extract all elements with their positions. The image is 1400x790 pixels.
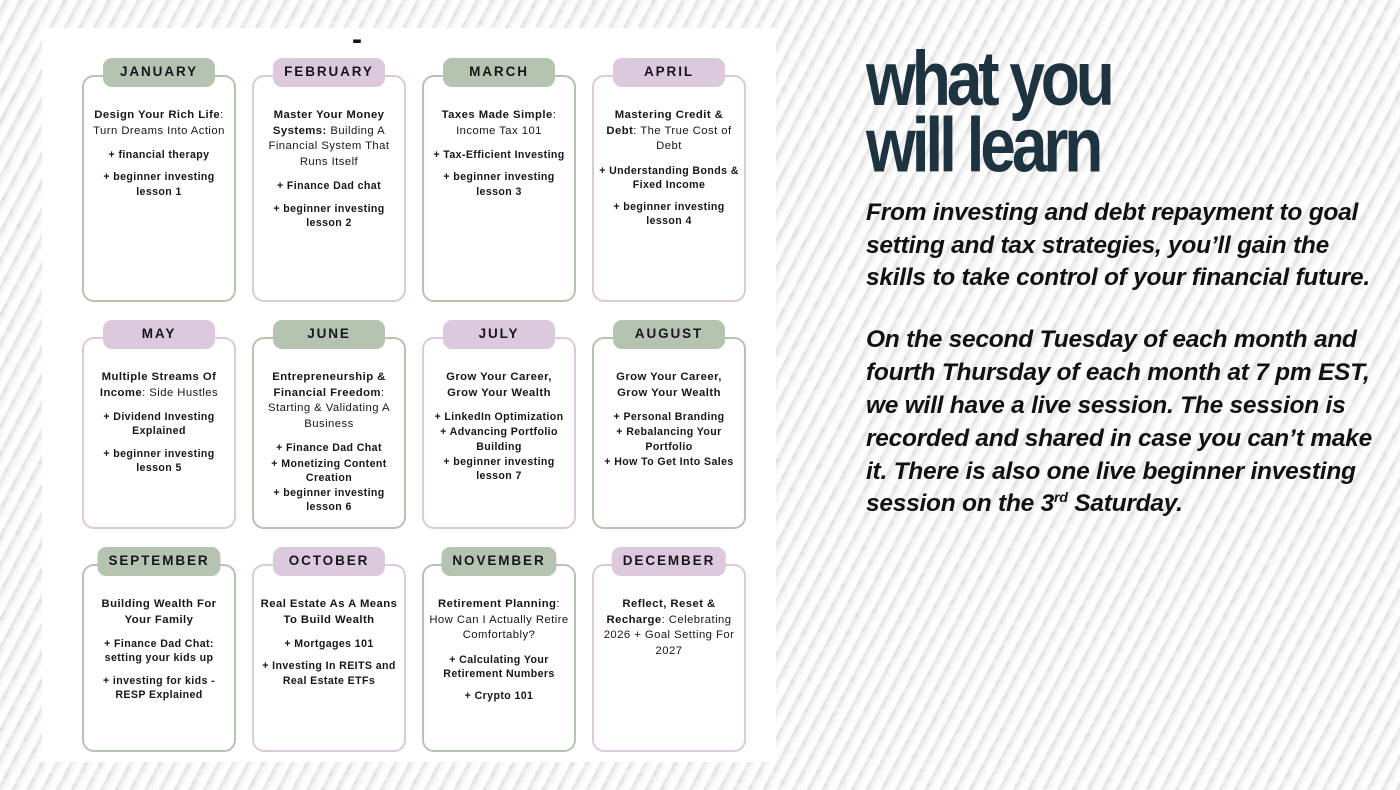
month-card-bullet: + How To Get Into Sales [599,455,739,469]
month-card-title: Master Your Money Systems: Building A Fi… [259,108,399,170]
month-card-tab-label: JUNE [307,326,351,341]
month-card-title-emphasis: Grow Your Career, Grow Your Wealth [616,371,722,399]
month-card-tab-label: FEBRUARY [284,64,374,79]
month-card-bullets: + Tax-Efficient Investing+ beginner inve… [429,148,569,199]
month-card-title-emphasis: Taxes Made Simple [442,109,553,121]
month-card-tab[interactable]: NOVEMBER [441,547,556,576]
month-card-body: Mastering Credit & Debt: The True Cost o… [592,75,746,302]
page-title: what you will learn [866,46,1361,179]
month-card-title: Real Estate As A Means To Build Wealth [259,597,399,628]
month-card[interactable]: Design Your Rich Life: Turn Dreams Into … [82,58,236,302]
month-card-grid: Design Your Rich Life: Turn Dreams Into … [82,58,786,752]
month-card-bullets: + Finance Dad Chat: setting your kids up… [89,637,229,702]
month-card-title: Taxes Made Simple: Income Tax 101 [429,108,569,139]
month-card-bullet: + Finance Dad Chat: setting your kids up [89,637,229,665]
month-card[interactable]: Multiple Streams Of Income: Side Hustles… [82,320,236,529]
month-card-bullets: + Personal Branding+ Rebalancing Your Po… [599,410,739,469]
month-card-bullet: + Understanding Bonds & Fixed Income [599,164,739,192]
month-card-title: Reflect, Reset & Recharge: Celebrating 2… [599,597,739,659]
month-card-body: Design Your Rich Life: Turn Dreams Into … [82,75,236,302]
month-card-bullet: + beginner investing lesson 1 [89,170,229,198]
month-card-body: Real Estate As A Means To Build Wealth+ … [252,564,406,752]
cropped-text-artifact: - [352,23,372,57]
month-card-title: Grow Your Career, Grow Your Wealth [599,370,739,401]
month-card[interactable]: Retirement Planning: How Can I Actually … [422,547,576,752]
month-card-tab-label: DECEMBER [623,553,715,568]
month-card-title-emphasis: Retirement Planning [438,598,556,610]
month-card-bullet: + Advancing Portfolio Building [429,425,569,453]
month-card-title: Retirement Planning: How Can I Actually … [429,597,569,644]
month-card-tab[interactable]: MARCH [443,58,555,87]
month-card-tab-label: APRIL [644,64,694,79]
month-card-tab-label: NOVEMBER [452,553,545,568]
month-card-bullet: + beginner investing lesson 5 [89,447,229,475]
learn-paragraph-2-tail: Saturday. [1068,490,1183,517]
month-card-bullet: + Tax-Efficient Investing [429,148,569,162]
month-card[interactable]: Real Estate As A Means To Build Wealth+ … [252,547,406,752]
month-card-bullet: + Mortgages 101 [259,637,399,651]
month-card-tab[interactable]: DECEMBER [612,547,726,576]
month-card-body: Taxes Made Simple: Income Tax 101+ Tax-E… [422,75,576,302]
month-card[interactable]: Grow Your Career, Grow Your Wealth+ Pers… [592,320,746,529]
month-card-title: Multiple Streams Of Income: Side Hustles [89,370,229,401]
month-card-tab[interactable]: JANUARY [103,58,215,87]
month-card-title-emphasis: Building Wealth For Your Family [101,598,216,626]
month-card-bullet: + beginner investing lesson 6 [259,486,399,514]
month-card-bullet: + beginner investing lesson 3 [429,170,569,198]
month-card-tab[interactable]: AUGUST [613,320,725,349]
month-card-tab-label: AUGUST [635,326,703,341]
month-card-title: Building Wealth For Your Family [89,597,229,628]
month-card-bullets: + Understanding Bonds & Fixed Income+ be… [599,164,739,229]
month-card-bullets: + financial therapy+ beginner investing … [89,148,229,199]
month-card-title-emphasis: Entrepreneurship & Financial Freedom [272,371,386,399]
month-card-tab[interactable]: JUNE [273,320,385,349]
month-card-title-emphasis: Real Estate As A Means To Build Wealth [261,598,398,626]
calendar-panel: - Design Your Rich Life: Turn Dreams Int… [42,28,776,762]
month-card-body: Multiple Streams Of Income: Side Hustles… [82,337,236,529]
month-card-bullet: + Rebalancing Your Portfolio [599,425,739,453]
month-card[interactable]: Entrepreneurship & Financial Freedom: St… [252,320,406,529]
month-card-title-rest: : The True Cost of Debt [633,125,731,153]
month-card-bullet: + Dividend Investing Explained [89,410,229,438]
month-card-tab[interactable]: MAY [103,320,215,349]
month-card[interactable]: Building Wealth For Your Family+ Finance… [82,547,236,752]
month-card-bullets: + Finance Dad chat+ beginner investing l… [259,179,399,230]
month-card-tab[interactable]: JULY [443,320,555,349]
month-card-tab[interactable]: SEPTEMBER [97,547,220,576]
month-card-body: Retirement Planning: How Can I Actually … [422,564,576,752]
month-card-bullet: + beginner investing lesson 7 [429,455,569,483]
month-card-body: Master Your Money Systems: Building A Fi… [252,75,406,302]
month-card-body: Grow Your Career, Grow Your Wealth+ Pers… [592,337,746,529]
month-card-bullet: + LinkedIn Optimization [429,410,569,424]
ordinal-suffix: rd [1054,490,1068,506]
month-card[interactable]: Reflect, Reset & Recharge: Celebrating 2… [592,547,746,752]
month-card[interactable]: Taxes Made Simple: Income Tax 101+ Tax-E… [422,58,576,302]
month-card-bullet: + Monetizing Content Creation [259,457,399,485]
month-card-bullets: + Finance Dad Chat+ Monetizing Content C… [259,441,399,514]
month-card-tab-label: MARCH [469,64,529,79]
month-card-bullet: + Crypto 101 [429,689,569,703]
month-card-title: Mastering Credit & Debt: The True Cost o… [599,108,739,155]
month-card-title: Entrepreneurship & Financial Freedom: St… [259,370,399,432]
month-card-bullet: + Personal Branding [599,410,739,424]
month-card-tab-label: SEPTEMBER [108,553,209,568]
month-card[interactable]: Mastering Credit & Debt: The True Cost o… [592,58,746,302]
month-card-bullet: + Investing In REITS and Real Estate ETF… [259,659,399,687]
month-card-title-rest: : Side Hustles [142,387,218,399]
month-card-title-emphasis: Grow Your Career, Grow Your Wealth [446,371,552,399]
month-card-bullet: + Finance Dad chat [259,179,399,193]
month-card-tab-label: MAY [142,326,176,341]
month-card-bullet: + beginner investing lesson 2 [259,202,399,230]
month-card[interactable]: Grow Your Career, Grow Your Wealth+ Link… [422,320,576,529]
month-card-bullet: + beginner investing lesson 4 [599,200,739,228]
month-card-bullets: + Calculating Your Retirement Numbers+ C… [429,653,569,704]
month-card-title-emphasis: Design Your Rich Life [94,109,220,121]
month-card-bullets: + LinkedIn Optimization+ Advancing Portf… [429,410,569,483]
month-card-bullet: + financial therapy [89,148,229,162]
month-card-bullets: + Dividend Investing Explained+ beginner… [89,410,229,475]
month-card-tab-label: JANUARY [120,64,198,79]
month-card-body: Building Wealth For Your Family+ Finance… [82,564,236,752]
month-card-bullet: + Finance Dad Chat [259,441,399,455]
month-card-tab-label: OCTOBER [289,553,370,568]
what-you-will-learn-panel: what you will learn From investing and d… [866,46,1376,521]
month-card-tab[interactable]: OCTOBER [273,547,385,576]
month-card-body: Reflect, Reset & Recharge: Celebrating 2… [592,564,746,752]
learn-paragraph-2-text: On the second Tuesday of each month and … [866,326,1372,517]
month-card-tab[interactable]: APRIL [613,58,725,87]
month-card-body: Entrepreneurship & Financial Freedom: St… [252,337,406,529]
month-card-title: Grow Your Career, Grow Your Wealth [429,370,569,401]
month-card-tab[interactable]: FEBRUARY [273,58,385,87]
month-card-bullet: + Calculating Your Retirement Numbers [429,653,569,681]
month-card-body: Grow Your Career, Grow Your Wealth+ Link… [422,337,576,529]
month-card-bullet: + investing for kids - RESP Explained [89,674,229,702]
month-card-tab-label: JULY [479,326,520,341]
month-card-bullets: + Mortgages 101+ Investing In REITS and … [259,637,399,688]
learn-paragraph-1: From investing and debt repayment to goa… [866,197,1376,295]
month-card[interactable]: Master Your Money Systems: Building A Fi… [252,58,406,302]
month-card-title: Design Your Rich Life: Turn Dreams Into … [89,108,229,139]
learn-paragraph-2: On the second Tuesday of each month and … [866,324,1376,521]
